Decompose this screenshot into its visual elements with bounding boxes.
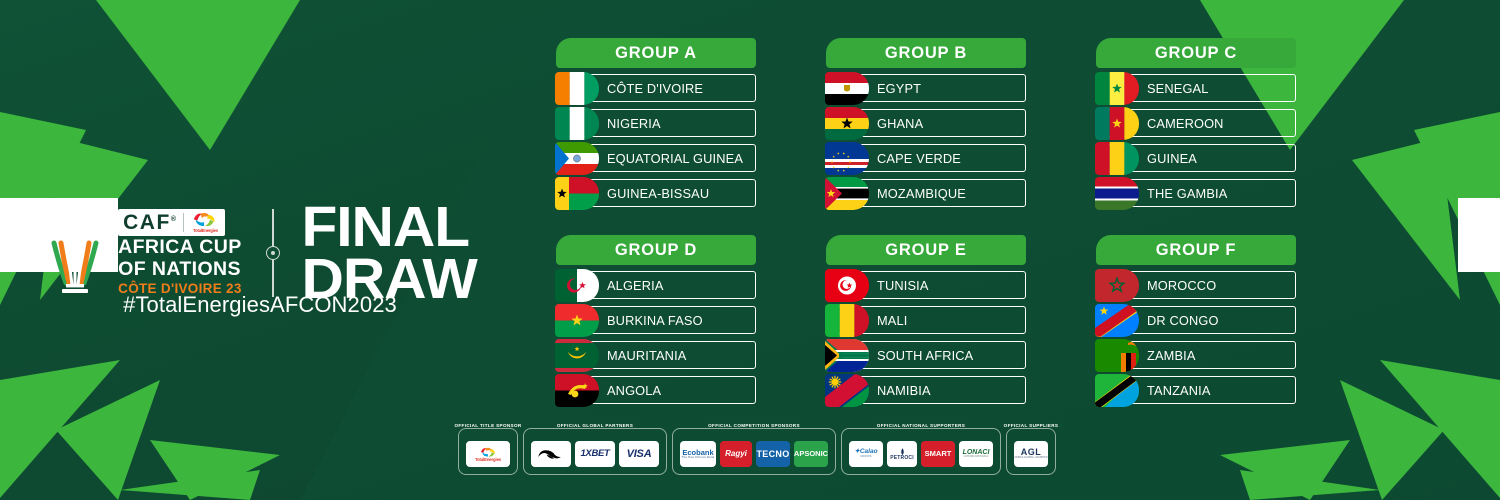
team-row[interactable]: ZAMBIA [1096, 341, 1296, 369]
team-row[interactable]: BURKINA FASO [556, 306, 756, 334]
sponsor-group: OFFICIAL NATIONAL SUPPORTERS✦CalaoGROUPE… [841, 428, 1001, 475]
sponsor-logo-list: TotalEnergies [466, 441, 510, 467]
flag-icon-bfa [555, 304, 599, 337]
team-name: MOROCCO [1147, 278, 1216, 293]
team-name: CAMEROON [1147, 116, 1224, 131]
flag-icon-mli [825, 304, 869, 337]
vertical-divider [272, 209, 274, 297]
team-name: MAURITANIA [607, 348, 686, 363]
sponsor-group: OFFICIAL SUPPLIERSAGLAFRICA GLOBAL LOGIS… [1006, 428, 1056, 475]
team-row[interactable]: MOZAMBIQUE [826, 179, 1026, 207]
group-d: GROUP DALGERIABURKINA FASOMAURITANIAANGO… [556, 235, 756, 404]
sponsor-logo-calao[interactable]: ✦CalaoGROUPE [849, 441, 883, 467]
team-name: GHANA [877, 116, 923, 131]
flag-icon-cpv [825, 142, 869, 175]
sponsor-caption: OFFICIAL NATIONAL SUPPORTERS [873, 423, 969, 428]
team-name: DR CONGO [1147, 313, 1219, 328]
sponsor-logo-list: AGLAFRICA GLOBAL LOGISTICS [1014, 441, 1048, 467]
sponsor-logo-text: APSONIC [794, 450, 828, 458]
group-header-d: GROUP D [556, 235, 756, 265]
team-row[interactable]: NAMIBIA [826, 376, 1026, 404]
team-name: NAMIBIA [877, 383, 931, 398]
flag-icon-zam [1095, 339, 1139, 372]
afcon-title-line2: OF NATIONS [118, 260, 242, 280]
groups-grid: GROUP ACÔTE D'IVOIRENIGERIAEQUATORIAL GU… [556, 38, 1296, 404]
sponsor-caption: OFFICIAL COMPETITION SPONSORS [704, 423, 804, 428]
team-row[interactable]: GHANA [826, 109, 1026, 137]
sponsor-logo-text: VISA [627, 449, 652, 460]
sponsor-logo-text: Ragyi [725, 450, 747, 458]
team-name: ZAMBIA [1147, 348, 1196, 363]
groups-section: GROUP ACÔTE D'IVOIRENIGERIAEQUATORIAL GU… [556, 38, 1296, 404]
flag-icon-gin [1095, 142, 1139, 175]
sponsor-logo-visa[interactable]: VISA [619, 441, 659, 467]
group-c: GROUP CSENEGALCAMEROONGUINEATHE GAMBIA [1096, 38, 1296, 207]
team-row[interactable]: SOUTH AFRICA [826, 341, 1026, 369]
team-name: MOZAMBIQUE [877, 186, 966, 201]
totalenergies-icon: TotalEnergies [190, 211, 220, 233]
team-row[interactable]: MALI [826, 306, 1026, 334]
group-b: GROUP BEGYPTGHANACAPE VERDEMOZAMBIQUE [826, 38, 1026, 207]
team-row[interactable]: SENEGAL [1096, 74, 1296, 102]
sponsor-group: OFFICIAL TITLE SPONSORTotalEnergies [458, 428, 518, 475]
team-name: ALGERIA [607, 278, 664, 293]
team-row[interactable]: ANGOLA [556, 376, 756, 404]
team-name: EGYPT [877, 81, 921, 96]
logo-divider [183, 213, 184, 232]
group-header-f: GROUP F [1096, 235, 1296, 265]
team-name: BURKINA FASO [607, 313, 703, 328]
sponsor-logo-text: 1XBET [580, 449, 609, 459]
sponsor-logo-agl[interactable]: AGLAFRICA GLOBAL LOGISTICS [1014, 441, 1048, 467]
team-name: CAPE VERDE [877, 151, 961, 166]
group-header-b: GROUP B [826, 38, 1026, 68]
team-row[interactable]: NIGERIA [556, 109, 756, 137]
flag-icon-mrt [555, 339, 599, 372]
flag-icon-cmr [1095, 107, 1139, 140]
team-name: ANGOLA [607, 383, 661, 398]
team-name: TANZANIA [1147, 383, 1211, 398]
team-name: CÔTE D'IVOIRE [607, 81, 703, 96]
sponsor-logo-text: SMART [925, 450, 952, 458]
team-row[interactable]: EGYPT [826, 74, 1026, 102]
flag-icon-tza [1095, 374, 1139, 407]
team-name: THE GAMBIA [1147, 186, 1227, 201]
sponsor-logo-smart[interactable]: SMART [921, 441, 955, 467]
caf-wordmark: CAF® [123, 212, 177, 233]
afcon-title-line1: AFRICA CUP [118, 238, 242, 258]
team-row[interactable]: GUINEA [1096, 144, 1296, 172]
sponsor-logo-text: TECNO [757, 450, 790, 459]
team-name: MALI [877, 313, 907, 328]
team-row[interactable]: EQUATORIAL GUINEA [556, 144, 756, 172]
flag-icon-cod [1095, 304, 1139, 337]
sponsor-logo-ragyi[interactable]: Ragyi [720, 441, 752, 467]
registered-mark: ® [171, 216, 178, 223]
sponsor-logo-lonaci[interactable]: LONACILOTERIE NATIONALE [959, 441, 993, 467]
flag-icon-gnb [555, 177, 599, 210]
sponsor-logo-list: EcobankThe Pan African BankRagyiTECNOAPS… [680, 441, 828, 467]
group-header-a: GROUP A [556, 38, 756, 68]
team-name: SENEGAL [1147, 81, 1209, 96]
team-row[interactable]: ALGERIA [556, 271, 756, 299]
group-a: GROUP ACÔTE D'IVOIRENIGERIAEQUATORIAL GU… [556, 38, 756, 207]
group-f: GROUP FMOROCCODR CONGOZAMBIATANZANIA [1096, 235, 1296, 404]
flag-icon-nam [825, 374, 869, 407]
team-row[interactable]: CAPE VERDE [826, 144, 1026, 172]
flag-icon-sen [1095, 72, 1139, 105]
caf-logo-badge: CAF® TotalEnergies [118, 209, 225, 236]
sponsor-bar: OFFICIAL TITLE SPONSORTotalEnergiesOFFIC… [458, 428, 1056, 475]
team-name: EQUATORIAL GUINEA [607, 151, 743, 166]
campaign-hashtag: #TotalEnergiesAFCON2023 [0, 292, 520, 318]
sponsor-logo-petroci[interactable]: PETROCI [887, 441, 917, 467]
group-header-e: GROUP E [826, 235, 1026, 265]
team-name: TUNISIA [877, 278, 929, 293]
sponsor-logo-list: 1XBETVISA [531, 441, 659, 467]
team-row[interactable]: GUINEA-BISSAU [556, 179, 756, 207]
final-draw-line1: FINAL [301, 201, 476, 253]
team-name: SOUTH AFRICA [877, 348, 973, 363]
flag-icon-rsa [825, 339, 869, 372]
team-row[interactable]: THE GAMBIA [1096, 179, 1296, 207]
sponsor-logo-ecobank[interactable]: EcobankThe Pan African Bank [680, 441, 716, 467]
sponsor-logo-puma[interactable] [531, 441, 571, 467]
team-name: GUINEA [1147, 151, 1197, 166]
team-row[interactable]: MAURITANIA [556, 341, 756, 369]
flag-icon-nga [555, 107, 599, 140]
group-header-c: GROUP C [1096, 38, 1296, 68]
afcon-trophy-logo [46, 210, 104, 296]
group-e: GROUP ETUNISIAMALISOUTH AFRICANAMIBIA [826, 235, 1026, 404]
sponsor-logo-apsonic[interactable]: APSONIC [794, 441, 828, 467]
flag-icon-mar [1095, 269, 1139, 302]
sponsor-logo-list: ✦CalaoGROUPEPETROCISMARTLONACILOTERIE NA… [849, 441, 993, 467]
flag-icon-egy [825, 72, 869, 105]
team-row[interactable]: MOROCCO [1096, 271, 1296, 299]
sponsor-group: OFFICIAL GLOBAL PARTNERS1XBETVISA [523, 428, 667, 475]
team-row[interactable]: TUNISIA [826, 271, 1026, 299]
sponsor-logo-tecno[interactable]: TECNO [756, 441, 790, 467]
sponsor-logo-1xbet[interactable]: 1XBET [575, 441, 615, 467]
flag-icon-tun [825, 269, 869, 302]
sponsor-caption: OFFICIAL TITLE SPONSOR [450, 423, 525, 428]
sponsor-group: OFFICIAL COMPETITION SPONSORSEcobankThe … [672, 428, 836, 475]
flag-icon-gha [825, 107, 869, 140]
team-row[interactable]: DR CONGO [1096, 306, 1296, 334]
flag-icon-civ [555, 72, 599, 105]
sponsor-caption: OFFICIAL SUPPLIERS [1000, 423, 1063, 428]
divider-knob-icon [266, 246, 280, 260]
team-row[interactable]: CÔTE D'IVOIRE [556, 74, 756, 102]
team-row[interactable]: CAMEROON [1096, 109, 1296, 137]
sponsor-caption: OFFICIAL GLOBAL PARTNERS [553, 423, 637, 428]
totalenergies-caption: TotalEnergies [190, 228, 220, 233]
team-row[interactable]: TANZANIA [1096, 376, 1296, 404]
flag-icon-gnq [555, 142, 599, 175]
flag-icon-ago [555, 374, 599, 407]
team-name: NIGERIA [607, 116, 661, 131]
final-draw-title: FINAL DRAW [301, 201, 476, 306]
sponsor-logo-totalenergies[interactable]: TotalEnergies [466, 441, 510, 467]
team-name: GUINEA-BISSAU [607, 186, 709, 201]
flag-icon-moz [825, 177, 869, 210]
flag-icon-gmb [1095, 177, 1139, 210]
flag-icon-alg [555, 269, 599, 302]
